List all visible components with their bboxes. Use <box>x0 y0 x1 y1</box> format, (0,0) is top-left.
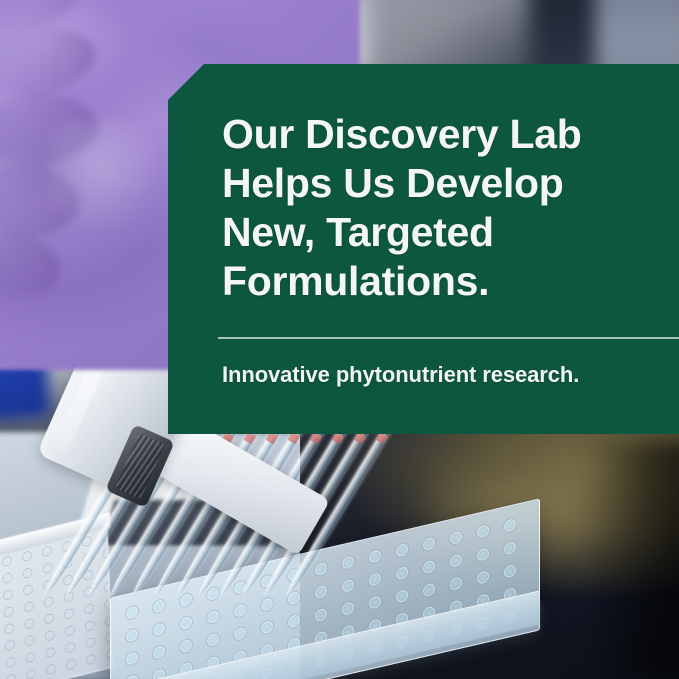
green-message-panel: Our Discovery Lab Helps Us Develop New, … <box>168 64 679 434</box>
bench-shadow-right <box>580 440 679 679</box>
divider-rule <box>218 337 679 339</box>
page-title: Our Discovery Lab Helps Us Develop New, … <box>222 110 679 306</box>
promo-graphic: PhysioCare for your biology Our Discover… <box>0 0 679 679</box>
glove-knuckle-highlight <box>50 120 170 240</box>
panel-subtitle: Innovative phytonutrient research. <box>222 360 675 390</box>
